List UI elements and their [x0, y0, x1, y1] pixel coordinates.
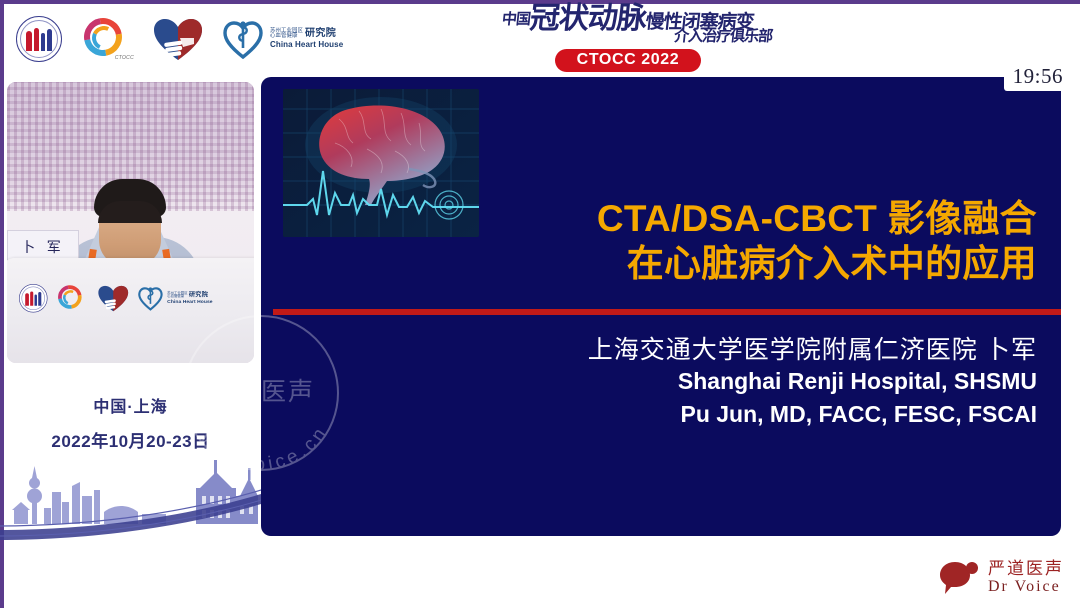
slide-title: CTA/DSA-CBCT 影像融合 在心脏病介入术中的应用 [261, 196, 1037, 286]
heart-handshake-icon [152, 16, 204, 62]
screen-root: CTOCC [0, 0, 1080, 608]
conference-seal-logo [16, 16, 62, 62]
podium-china-heart-house-logo: 苏州工业园区 心血管健康 研究院 China Heart House [137, 285, 212, 311]
podium-heart-logo [97, 284, 129, 313]
event-city: 中国·上海 [7, 393, 254, 417]
conf-tail-cn-2: 介入治疗俱乐部 [673, 29, 773, 45]
slide-divider-rule [273, 309, 1061, 315]
slide-affiliation-cn: 上海交通大学医学院附属仁济医院 卜军 [261, 330, 1037, 366]
header-logo-strip: CTOCC [8, 10, 478, 68]
slide-affiliation-en: Shanghai Renji Hospital, SHSMU Pu Jun, M… [261, 365, 1037, 430]
drvoice-brand-logo: 严道医声 Dr Voice [939, 559, 1064, 596]
podium-logo-strip: 苏州工业园区 心血管健康 研究院 China Heart House [19, 284, 213, 313]
china-heart-house-icon [137, 285, 163, 311]
chh-en: China Heart House [270, 41, 343, 49]
podium-ctocc-logo [56, 284, 89, 313]
speaker-video[interactable]: 卜 军 [7, 82, 254, 363]
china-heart-house-logo: 苏州工业园区 心血管健康 研究院 China Heart House [222, 18, 343, 60]
shanghai-skyline-graphic [0, 452, 262, 542]
presentation-slide[interactable]: CTA/DSA-CBCT 影像融合 在心脏病介入术中的应用 上海交通大学医学院附… [261, 77, 1061, 536]
ctocc-year-badge: CTOCC 2022 [555, 49, 702, 72]
podium-chh-en: China Heart House [167, 299, 212, 304]
china-heart-house-icon [222, 18, 264, 60]
ctocc-swirl-logo: CTOCC [80, 16, 134, 62]
podium-seal-logo [19, 284, 48, 313]
event-dates: 2022年10月20-23日 [7, 427, 254, 452]
podium-chh-cn-big: 研究院 [189, 292, 208, 299]
heart-handshake-logo [152, 16, 204, 62]
chh-cn-big: 研究院 [305, 29, 336, 40]
brand-name-en: Dr Voice [988, 578, 1064, 596]
brand-name-cn: 严道医声 [988, 559, 1064, 578]
speech-bubble-icon [939, 560, 979, 596]
conf-prefix-cn: 中国 [501, 12, 531, 28]
ctocc-swirl-caption: CTOCC [115, 55, 134, 61]
podium-panel: 苏州工业园区 心血管健康 研究院 China Heart House [7, 258, 254, 363]
heart-handshake-icon [97, 284, 129, 313]
clock-readout: 19:56 [1004, 63, 1072, 91]
conference-wordmark: 中国冠状动脉慢性闭塞病变 介入治疗俱乐部 CTOCC 2022 [478, 4, 778, 74]
